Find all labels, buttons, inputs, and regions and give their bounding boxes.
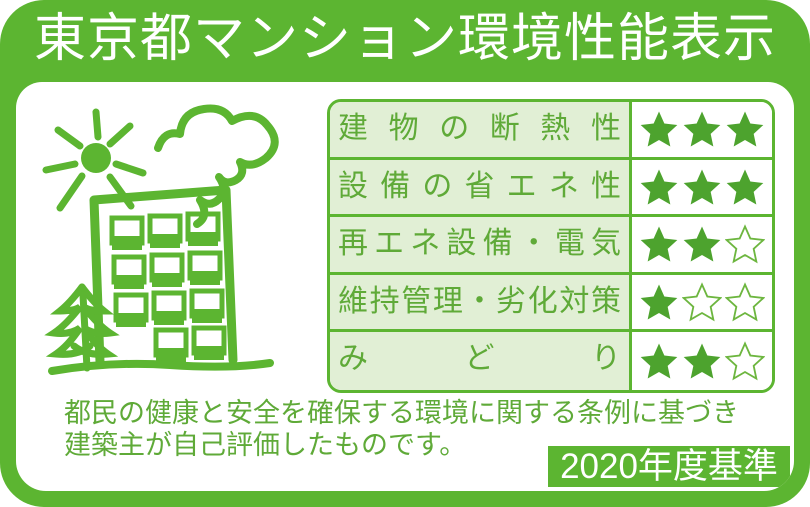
balcony-windows-icon — [112, 214, 224, 362]
star-filled-icon — [639, 167, 679, 207]
rating-label: 維持管理・劣化対策 — [330, 275, 632, 330]
rating-stars — [632, 275, 772, 330]
sun-icon — [81, 143, 111, 173]
star-filled-icon — [682, 109, 722, 149]
table-row: 再エネ設備・電気 — [330, 217, 772, 275]
rating-label: みどり — [330, 332, 632, 390]
note-line-1: 都民の健康と安全を確保する環境に関する条例に基づき — [64, 397, 774, 429]
eco-building-illustration — [30, 90, 330, 400]
rating-label-text: 建物の断熱性 — [338, 102, 621, 156]
content-card: 建物の断熱性 設備の省エネ性 再エネ設備・電気 — [16, 82, 794, 491]
star-empty-icon — [725, 224, 765, 264]
rating-label-text: 設備の省エネ性 — [338, 160, 621, 214]
star-empty-icon — [725, 341, 765, 381]
rating-label: 設備の省エネ性 — [330, 160, 632, 215]
rating-label-text: 維持管理・劣化対策 — [338, 275, 621, 329]
star-filled-icon — [682, 341, 722, 381]
title-bar: 東京都マンション環境性能表示 — [0, 0, 810, 82]
rating-stars — [632, 102, 772, 157]
rating-stars — [632, 217, 772, 272]
cloud-icon — [158, 109, 275, 225]
star-empty-icon — [725, 282, 765, 322]
standard-year-badge: 2020年度基準 — [548, 446, 790, 487]
table-row: 維持管理・劣化対策 — [330, 275, 772, 333]
table-row: 建物の断熱性 — [330, 102, 772, 160]
star-filled-icon — [639, 224, 679, 264]
rating-label-text: みどり — [338, 332, 621, 386]
ground-line-icon — [52, 363, 270, 371]
star-filled-icon — [639, 341, 679, 381]
rating-label: 建物の断熱性 — [330, 102, 632, 157]
star-filled-icon — [682, 224, 722, 264]
star-filled-icon — [682, 167, 722, 207]
star-filled-icon — [725, 109, 765, 149]
environmental-performance-label: 東京都マンション環境性能表示 — [0, 0, 810, 507]
star-filled-icon — [639, 282, 679, 322]
star-empty-icon — [682, 282, 722, 322]
rating-label-text: 再エネ設備・電気 — [338, 217, 621, 271]
star-filled-icon — [639, 109, 679, 149]
rating-label: 再エネ設備・電気 — [330, 217, 632, 272]
star-filled-icon — [725, 167, 765, 207]
rating-stars — [632, 332, 772, 390]
table-row: 設備の省エネ性 — [330, 160, 772, 218]
table-row: みどり — [330, 332, 772, 390]
rating-table: 建物の断熱性 設備の省エネ性 再エネ設備・電気 — [327, 99, 775, 393]
page-title: 東京都マンション環境性能表示 — [34, 13, 776, 69]
rating-stars — [632, 160, 772, 215]
